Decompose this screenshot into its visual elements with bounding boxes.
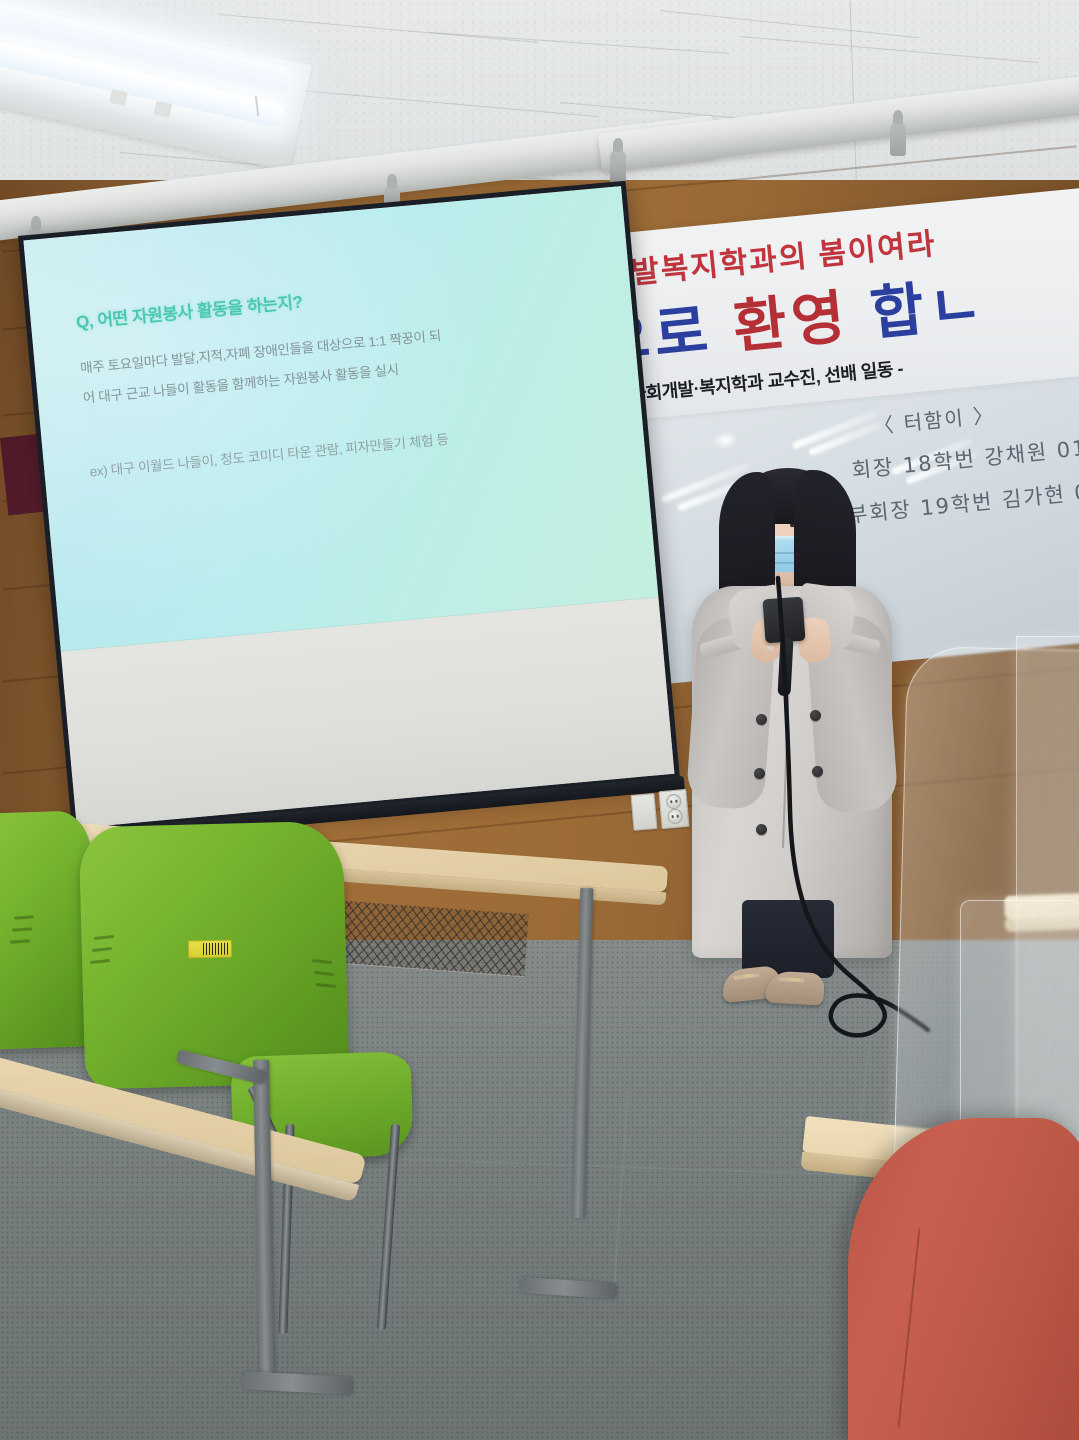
chair-inventory-label: [188, 940, 232, 959]
projector-glow: [23, 186, 538, 657]
coat-button: [810, 710, 821, 721]
coat-button: [812, 766, 823, 777]
smartphone[interactable]: [763, 597, 806, 644]
slide-title: Q, 어떤 자원봉사 활동을 하는지?: [75, 288, 304, 333]
wall-power-outlet[interactable]: [658, 789, 689, 829]
projected-slide: Q, 어떤 자원봉사 활동을 하는지? 매주 토요일마다 발달,지적,자폐 장애…: [23, 186, 658, 652]
slide-example-line: ex) 대구 이월드 나들이, 청도 코미디 타운 관람, 피자만들기 체험 등: [89, 413, 617, 481]
outlet-socket[interactable]: [666, 793, 682, 809]
shoe-buckle: [788, 978, 799, 982]
roller-bracket: [890, 122, 906, 156]
finger-ring: [766, 646, 774, 650]
outlet-socket[interactable]: [667, 808, 683, 824]
screen-surface: Q, 어떤 자원봉사 활동을 하는지? 매주 토요일마다 발달,지적,자폐 장애…: [23, 186, 674, 828]
wall-plate-blank[interactable]: [630, 793, 657, 831]
coat-button: [756, 714, 767, 725]
presenter: [686, 468, 896, 1038]
sweater-seam: [898, 1228, 921, 1427]
acrylic-divider-reflection: [960, 900, 1079, 1142]
whiteboard-light-spot: [711, 430, 739, 450]
shoe-right: [765, 971, 825, 1006]
foreground-person-shoulder: [848, 1118, 1079, 1440]
roller-bracket: [610, 150, 626, 184]
coat-button: [756, 824, 767, 835]
classroom-photo-scene: 개발복지학과의 봄이여라 으로 환영 합ㄴ 역사회개발·복지학과 교수진, 선배…: [0, 0, 1079, 1440]
chair-center[interactable]: [82, 824, 482, 1284]
whiteboard-heading: 〈 터함이 〉: [872, 399, 996, 440]
coat-button: [754, 768, 765, 779]
banner-line-2-part-b: 환영: [730, 284, 853, 360]
projection-screen[interactable]: Q, 어떤 자원봉사 활동을 하는지? 매주 토요일마다 발달,지적,자폐 장애…: [18, 181, 680, 834]
banner-line-2-part-c: 합ㄴ: [868, 271, 991, 347]
jeans: [742, 900, 834, 978]
